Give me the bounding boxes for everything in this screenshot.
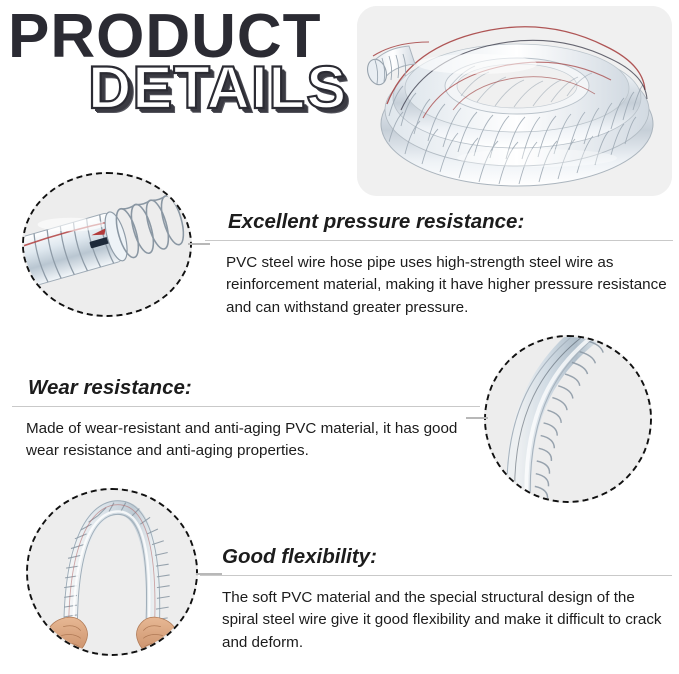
page-title-details: DETAILS <box>88 58 347 118</box>
connector-line-pressure <box>188 243 210 245</box>
title-block: PRODUCT DETAILS <box>0 0 350 145</box>
feature-body-pressure: PVC steel wire hose pipe uses high-stren… <box>226 252 676 319</box>
feature-divider-flexibility <box>200 575 672 576</box>
hands-bending-hose-illustration <box>28 490 196 654</box>
hero-product-photo <box>357 6 672 196</box>
feature-divider-wear <box>12 406 480 407</box>
inset-flexibility <box>26 488 198 656</box>
inset-pressure-resistance <box>22 172 192 317</box>
coiled-hose-illustration <box>357 6 672 196</box>
feature-divider-pressure <box>205 240 673 241</box>
connector-line-wear <box>466 417 488 419</box>
feature-body-flexibility: The soft PVC material and the special st… <box>222 587 674 654</box>
feature-heading-flexibility: Good flexibility: <box>222 545 377 569</box>
product-details-infographic: PRODUCT DETAILS <box>0 0 679 674</box>
hose-cutaway-steel-wire-illustration <box>24 174 190 315</box>
feature-body-wear: Made of wear-resistant and anti-aging PV… <box>26 418 476 463</box>
curved-hose-closeup-illustration <box>486 337 650 501</box>
inset-wear-resistance <box>484 335 652 503</box>
feature-heading-wear: Wear resistance: <box>28 376 192 400</box>
feature-heading-pressure: Excellent pressure resistance: <box>228 210 524 234</box>
